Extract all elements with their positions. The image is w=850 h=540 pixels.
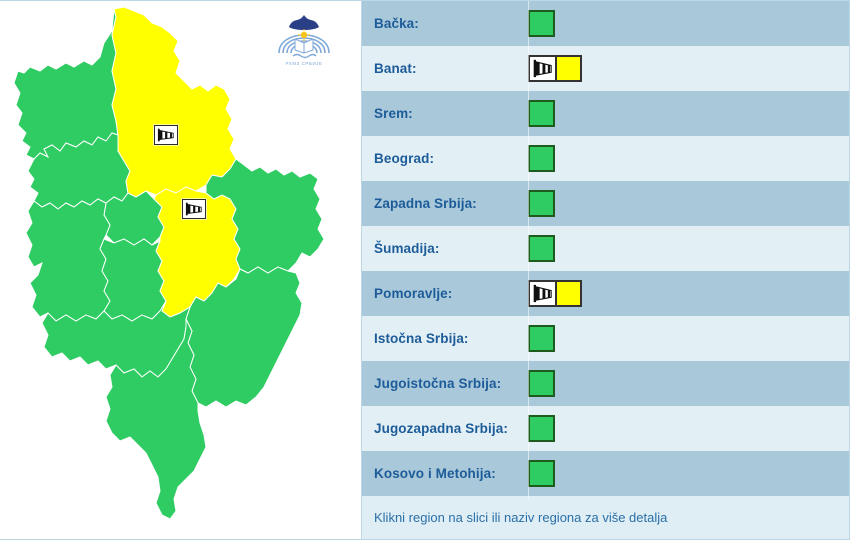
map-region-banat[interactable]	[112, 7, 236, 197]
region-symbols	[528, 235, 555, 262]
region-row[interactable]: Istočna Srbija:	[362, 316, 849, 361]
warning-level-swatch-green[interactable]	[528, 145, 555, 172]
region-warning-list-panel: Bačka:Banat:Srem:Beograd:Zapadna Srbija:…	[362, 0, 850, 540]
region-row[interactable]: Zapadna Srbija:	[362, 181, 849, 226]
region-symbols	[528, 370, 555, 397]
region-symbols	[528, 10, 555, 37]
symbol-column-divider	[528, 1, 529, 499]
warning-level-swatch-green[interactable]	[528, 325, 555, 352]
region-name-link[interactable]: Kosovo i Metohija:	[362, 466, 528, 481]
warning-level-swatch-green[interactable]	[528, 460, 555, 487]
region-symbols	[528, 55, 582, 82]
region-row[interactable]: Jugozapadna Srbija:	[362, 406, 849, 451]
region-name-link[interactable]: Beograd:	[362, 151, 528, 166]
region-row[interactable]: Banat:	[362, 46, 849, 91]
region-row[interactable]: Beograd:	[362, 136, 849, 181]
warning-level-swatch-green[interactable]	[528, 415, 555, 442]
map-region-zapadna-srbija[interactable]	[26, 199, 110, 321]
region-symbols	[528, 280, 582, 307]
region-symbols	[528, 460, 555, 487]
region-name-link[interactable]: Šumadija:	[362, 241, 528, 256]
serbia-map-svg[interactable]	[0, 1, 362, 540]
region-symbols	[528, 100, 555, 127]
region-rows: Bačka:Banat:Srem:Beograd:Zapadna Srbija:…	[362, 1, 849, 496]
region-name-link[interactable]: Jugozapadna Srbija:	[362, 421, 528, 436]
footer-hint-text: Klikni region na slici ili naziv regiona…	[374, 510, 667, 525]
region-name-link[interactable]: Jugoistočna Srbija:	[362, 376, 528, 391]
region-row[interactable]: Šumadija:	[362, 226, 849, 271]
region-row[interactable]: Jugoistočna Srbija:	[362, 361, 849, 406]
region-symbols	[528, 325, 555, 352]
warning-level-swatch-green[interactable]	[528, 190, 555, 217]
rhmz-logo: РХМЗ СРБИЈЕ	[275, 9, 333, 69]
warning-level-swatch-yellow[interactable]	[555, 280, 582, 307]
region-name-link[interactable]: Istočna Srbija:	[362, 331, 528, 346]
windsock-icon	[528, 55, 555, 82]
list-footer: Klikni region na slici ili naziv regiona…	[362, 496, 849, 538]
map-marker-pomoravlje-windsock-icon[interactable]	[182, 199, 206, 219]
region-name-link[interactable]: Pomoravlje:	[362, 286, 528, 301]
region-name-link[interactable]: Srem:	[362, 106, 528, 121]
serbia-map-panel[interactable]: РХМЗ СРБИЈЕ	[0, 0, 362, 540]
map-region-backa[interactable]	[14, 9, 118, 159]
warning-level-swatch-yellow[interactable]	[555, 55, 582, 82]
warning-level-swatch-green[interactable]	[528, 235, 555, 262]
region-symbols	[528, 145, 555, 172]
warning-level-swatch-green[interactable]	[528, 370, 555, 397]
region-name-link[interactable]: Bačka:	[362, 16, 528, 31]
warning-level-swatch-green[interactable]	[528, 100, 555, 127]
logo-caption: РХМЗ СРБИЈЕ	[285, 61, 322, 66]
warning-level-swatch-green[interactable]	[528, 10, 555, 37]
windsock-icon	[528, 280, 555, 307]
region-row[interactable]: Bačka:	[362, 1, 849, 46]
region-symbols	[528, 415, 555, 442]
region-row[interactable]: Pomoravlje:	[362, 271, 849, 316]
map-marker-banat-windsock-icon[interactable]	[154, 125, 178, 145]
region-name-link[interactable]: Zapadna Srbija:	[362, 196, 528, 211]
region-symbols	[528, 190, 555, 217]
region-row[interactable]: Kosovo i Metohija:	[362, 451, 849, 496]
region-name-link[interactable]: Banat:	[362, 61, 528, 76]
region-row[interactable]: Srem:	[362, 91, 849, 136]
weather-warning-page: РХМЗ СРБИЈЕ Bačka:Banat:Srem:Beo	[0, 0, 850, 540]
